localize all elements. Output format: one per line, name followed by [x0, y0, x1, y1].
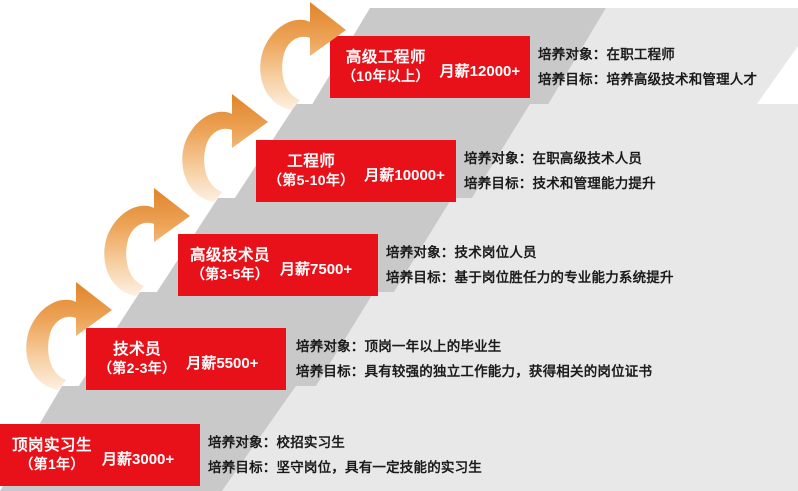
tier-4-title: 工程师	[268, 152, 354, 172]
tier-1-name-block: 顶岗实习生 （第1年）	[12, 436, 92, 474]
tier-4-salary: 月薪10000+	[364, 158, 444, 185]
tier-3-salary: 月薪7500+	[280, 252, 352, 279]
tier-card-intern[interactable]: 顶岗实习生 （第1年） 月薪3000+	[0, 424, 200, 486]
tier-card-technician[interactable]: 技术员 （第2-3年） 月薪5500+	[86, 328, 286, 390]
tier-1-audience: 培养对象：校招实习生	[208, 430, 794, 456]
career-ladder-diagram: 高级工程师 （10年以上） 月薪12000+ 培养对象：在职工程师 培养目标：培…	[0, 0, 798, 491]
tier-1-goal: 培养目标：坚守岗位，具有一定技能的实习生	[208, 455, 794, 481]
tier-1-details: 培养对象：校招实习生 培养目标：坚守岗位，具有一定技能的实习生	[208, 424, 794, 486]
tier-2-audience: 培养对象：顶岗一年以上的毕业生	[296, 334, 794, 360]
tier-4-details: 培养对象：在职高级技术人员 培养目标：技术和管理能力提升	[464, 140, 794, 202]
tier-3-name-block: 高级技术员 （第3-5年）	[190, 246, 270, 284]
tier-5-name-block: 高级工程师 （10年以上）	[342, 48, 430, 86]
tier-2-goal: 培养目标：具有较强的独立工作能力，获得相关的岗位证书	[296, 359, 794, 385]
promotion-arrow-to-technician	[16, 280, 116, 392]
tier-card-senior-technician[interactable]: 高级技术员 （第3-5年） 月薪7500+	[178, 234, 378, 296]
tier-5-details: 培养对象：在职工程师 培养目标：培养高级技术和管理人才	[538, 36, 794, 98]
tier-3-details: 培养对象：技术岗位人员 培养目标：基于岗位胜任力的专业能力系统提升	[386, 234, 794, 296]
tier-3-title: 高级技术员	[190, 246, 270, 266]
tier-4-goal: 培养目标：技术和管理能力提升	[464, 171, 794, 197]
tier-1-title: 顶岗实习生	[12, 436, 92, 456]
tier-4-years: （第5-10年）	[268, 172, 354, 190]
tier-3-audience: 培养对象：技术岗位人员	[386, 240, 794, 266]
tier-1-salary: 月薪3000+	[102, 442, 174, 469]
tier-5-years: （10年以上）	[342, 68, 430, 86]
tier-4-name-block: 工程师 （第5-10年）	[268, 152, 354, 190]
tier-5-audience: 培养对象：在职工程师	[538, 42, 794, 68]
tier-2-salary: 月薪5500+	[186, 346, 258, 373]
tier-1-years: （第1年）	[12, 456, 92, 474]
tier-card-senior-engineer[interactable]: 高级工程师 （10年以上） 月薪12000+	[330, 36, 530, 98]
tier-5-salary: 月薪12000+	[440, 54, 520, 81]
tier-5-goal: 培养目标：培养高级技术和管理人才	[538, 67, 794, 93]
tier-4-audience: 培养对象：在职高级技术人员	[464, 146, 794, 172]
tier-2-details: 培养对象：顶岗一年以上的毕业生 培养目标：具有较强的独立工作能力，获得相关的岗位…	[296, 328, 794, 390]
tier-3-years: （第3-5年）	[190, 266, 270, 284]
tier-card-engineer[interactable]: 工程师 （第5-10年） 月薪10000+	[256, 140, 456, 202]
tier-5-title: 高级工程师	[342, 48, 430, 68]
tier-3-goal: 培养目标：基于岗位胜任力的专业能力系统提升	[386, 265, 794, 291]
